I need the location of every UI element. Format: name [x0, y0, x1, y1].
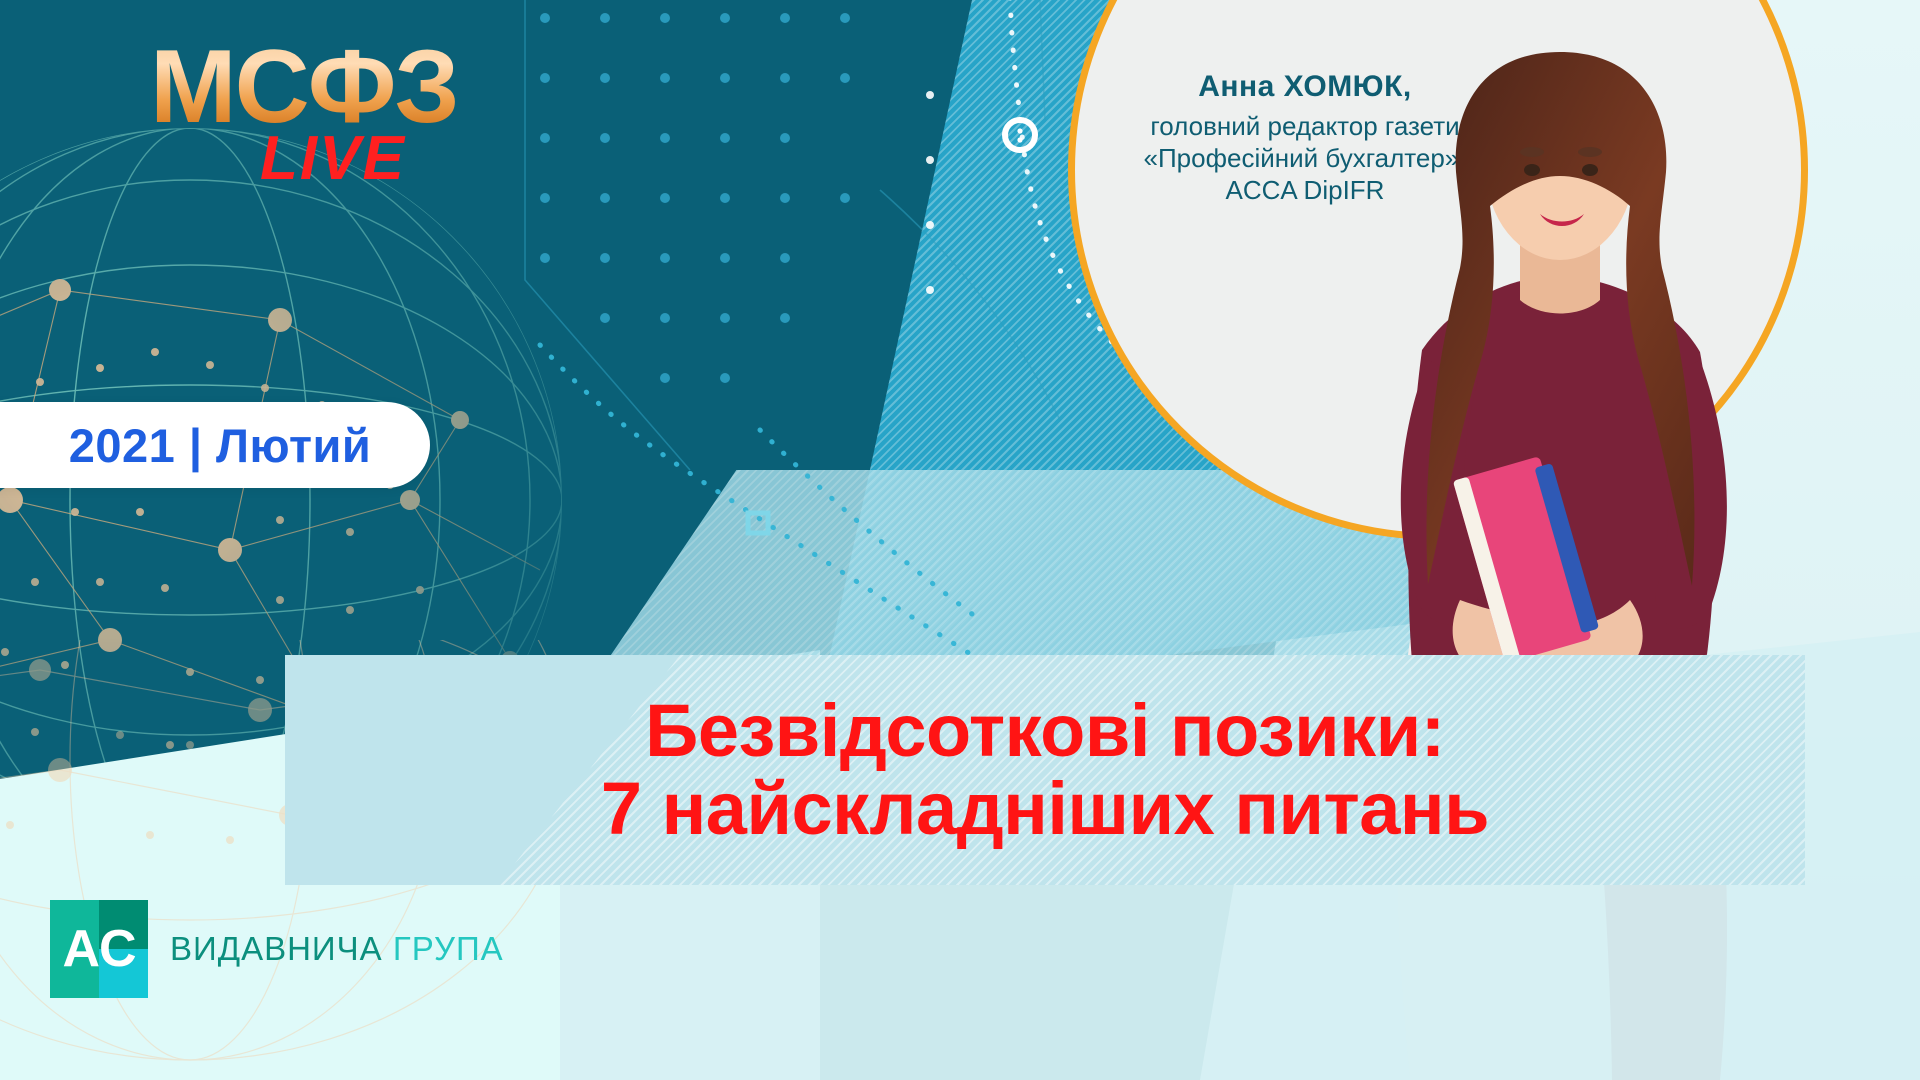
title-line-1: Безвідсоткові позики:	[645, 692, 1445, 770]
ac-logo-letters: AC	[50, 900, 148, 998]
promo-banner: МСФЗ LIVE 2021 | Лютий Анна ХОМЮК, голов…	[0, 0, 1920, 1080]
publisher-logo: AC ВИДАВНИЧА ГРУПА	[50, 900, 504, 998]
publisher-name: ВИДАВНИЧА ГРУПА	[170, 930, 504, 968]
scatter-dot-icon	[926, 91, 934, 294]
ac-logo-mark: AC	[50, 900, 148, 998]
publisher-word-2: ГРУПА	[393, 930, 504, 967]
square-node-icon	[748, 513, 768, 533]
brand-logo: МСФЗ LIVE	[150, 38, 458, 187]
thin-line-decoration	[525, 0, 1060, 470]
title-line-2: 7 найскладніших питань	[601, 770, 1489, 848]
date-badge: 2021 | Лютий	[0, 402, 430, 488]
publisher-word-1: ВИДАВНИЧА	[170, 930, 383, 967]
brand-logo-main: МСФЗ	[150, 38, 458, 137]
date-badge-label: 2021 | Лютий	[19, 418, 372, 473]
title-panel: Безвідсоткові позики: 7 найскладніших пи…	[285, 655, 1805, 885]
dot-grid-decoration	[540, 13, 850, 383]
circle-node-icon	[1005, 120, 1035, 150]
